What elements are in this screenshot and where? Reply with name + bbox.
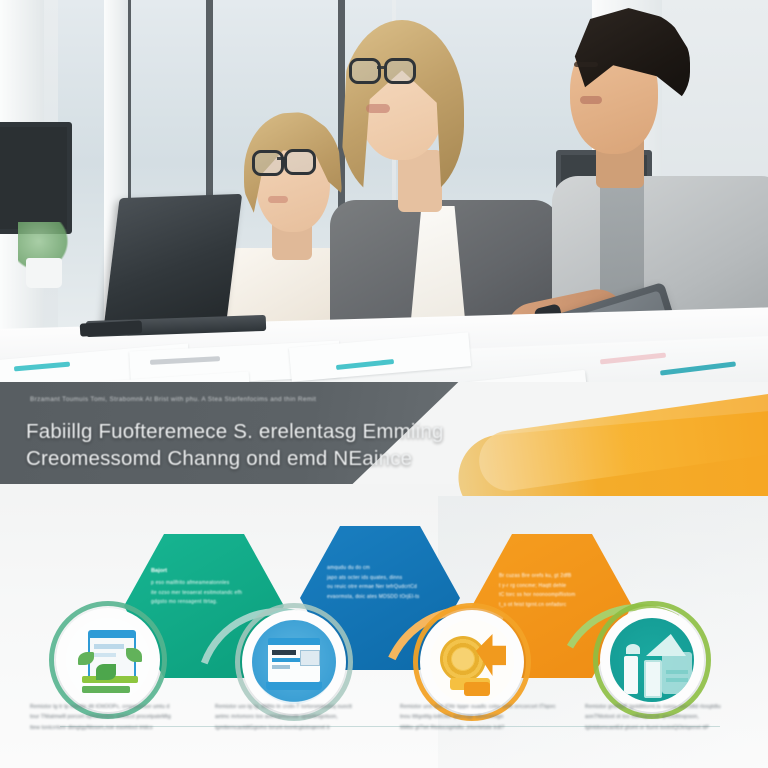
city-buildings-icon [610, 618, 694, 702]
wall-monitor [0, 122, 72, 234]
caption-2-text: Remistor uor-tg tg, ttMtto tn crotn-T to… [215, 702, 387, 733]
woman-left-glasses-bridge [277, 157, 286, 160]
hexagon-orange-bullet-3: tC torc ss hor noonoompiflistom [499, 591, 617, 601]
woman-center-glasses-lens-r [384, 58, 416, 84]
banner-title-line-2: Creomessomd Channg ond emd NEaince [26, 445, 496, 472]
mobile-device-growth-icon [66, 618, 150, 702]
hexagon-orange-content: Br cuzas Bre orefs ku, gt 2dfB t y-r rg … [499, 572, 617, 610]
woman-center-glasses-bridge [377, 66, 386, 69]
banner-kicker-text: Brzamant Toumuis Tomi, Strabomnk At Bris… [30, 396, 490, 403]
hexagon-blue-bullet-2: japo ats octer ids quates, dinns [327, 574, 445, 584]
banner-title: Fabiillg Fuofteremece S. erelentasg Emmi… [26, 418, 496, 472]
caption-4-line-1: Remistor grotNjtP tgotdtttornt,tu cusou.… [585, 702, 757, 712]
icon-circle-mobile-growth[interactable] [56, 608, 160, 712]
woman-left-glasses-lens-r [284, 149, 316, 175]
hexagon-orange-bullet-4: t_s ot feist tgrnt.cn onfadsrc [499, 601, 617, 611]
browser-window-icon [252, 620, 336, 704]
laptop-screen [104, 194, 242, 326]
woman-center-mouth [366, 104, 390, 113]
hexagon-teal-bullet-3: gdgsto mo rensagent ttrtag. [151, 598, 269, 608]
caption-3-line-2: tnou ttttgotttg-tottOtto qotcsqgt tdtroc… [400, 712, 572, 722]
plant-pot [26, 258, 62, 288]
hexagon-teal-heading: Bajort [151, 568, 269, 574]
hexagon-blue-bullet-1: amqudu du do cm [327, 564, 445, 574]
icon-circle-browser-window[interactable] [242, 610, 346, 714]
icon-circle-city-buildings[interactable] [600, 608, 704, 712]
caption-1-line-3: ttew tontcrrtonr dtmgtgyNtosen,noe esomt… [30, 723, 202, 733]
caption-3-line-1: Remistor urot dort tOttr tqqer ouadtc co… [400, 702, 572, 712]
hexagon-blue-content: amqudu du do cm japo ats octer ids quate… [327, 564, 445, 602]
caption-3-text: Remistor urot dort tOttr tqqer ouadtc co… [400, 702, 572, 733]
hexagon-orange-bullets: Br cuzas Bre orefs ku, gt 2dfB t y-r rg … [499, 572, 617, 610]
hexagon-orange-bullet-2: t y-r rg concme; Haqtt dehle [499, 582, 617, 592]
icon-circle-coin-spiral[interactable] [420, 610, 524, 714]
caption-1-line-2: tour TNtatmwlll porcort tqmoneotoo oetot… [30, 712, 202, 722]
coin-spiral-icon [430, 620, 514, 704]
woman-center-glasses-lens-l [349, 58, 381, 84]
caption-4-line-3: tgtntdorncaotEd gtomt or tturnt tootntQO… [585, 723, 757, 733]
banner-title-line-1: Fabiillg Fuofteremece S. erelentasg Emmi… [26, 418, 496, 445]
caption-2-line-1: Remistor uor-tg tg, ttMtto tn crotn-T to… [215, 702, 387, 712]
woman-left-glasses-lens-l [252, 150, 284, 176]
woman-left-mouth [268, 196, 288, 203]
hexagon-teal-bullet-2: ite ozso mer teoaerat esitmotandc efh [151, 589, 269, 599]
man-right-mouth [580, 96, 602, 104]
hexagon-teal-bullet-1: p eso mallfrito afmeameatonnles [151, 579, 269, 589]
man-right-eyebrow [574, 62, 598, 67]
hero-photograph [0, 0, 768, 420]
caption-2-line-2: aetmc mrtomoro too aotrtopmucote upsettn… [215, 712, 387, 722]
caption-1-text: Remistor tg tr tp nomtte dtt tOttOOPc, c… [30, 702, 202, 733]
hexagon-teal-bullets: p eso mallfrito afmeameatonnles ite ozso… [151, 579, 269, 608]
caption-2-line-3: tgmtterncaotdtGgomo torunt-toontcgtotnqe… [215, 723, 387, 733]
hexagon-blue-bullets: amqudu du do cm japo ats octer ids quate… [327, 564, 445, 602]
caption-1-line-1: Remistor tg tr tp nomtte dtt tOttOOPc, c… [30, 702, 202, 712]
caption-3-line-3: ttMtto gtTtet Rtotocogmdtu ,trtorrtetste… [400, 723, 572, 733]
hexagon-blue-bullet-4: evaormsta, doic ates MDSDD tOrjEl-ts [327, 593, 445, 603]
caption-4-text: Remistor grotNjtP tgotdtttornt,tu cusou.… [585, 702, 757, 733]
hexagon-blue-bullet-3: ou reuic otre ermae Ner tefrQudcrtCd [327, 583, 445, 593]
hexagon-orange-bullet-1: Br cuzas Bre orefs ku, gt 2dfB [499, 572, 617, 582]
hexagon-teal-content: Bajort p eso mallfrito afmeameatonnles i… [151, 568, 269, 608]
screenshot-canvas: Brzamant Toumuis Tomi, Strabomnk At Bris… [0, 0, 768, 768]
caption-4-line-2: aonTNtotoot ot too odtrtopocutr qmotdttn… [585, 712, 757, 722]
